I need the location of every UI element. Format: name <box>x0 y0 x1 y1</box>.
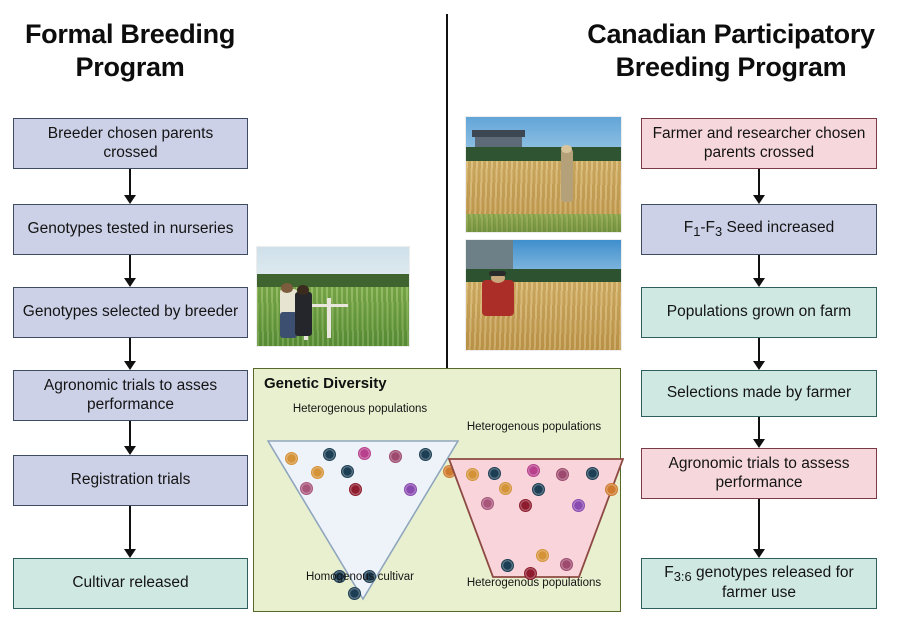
right-population-dot-13 <box>501 559 514 572</box>
left-population-dot-14 <box>348 587 361 600</box>
right-step-5-box[interactable]: Agronomic trials to assess performance <box>641 448 877 499</box>
left-population-dot-10 <box>349 483 362 496</box>
left-step-4-label: Agronomic trials to asses performance <box>20 377 241 415</box>
right-population-dot-11 <box>572 499 585 512</box>
right-population-dot-4 <box>556 468 569 481</box>
left-step-2-box[interactable]: Genotypes tested in nurseries <box>13 204 248 255</box>
right-column-title: Canadian Participatory Breeding Program <box>566 18 896 84</box>
right-arrow-2 <box>753 255 765 287</box>
left-population-dot-5 <box>419 448 432 461</box>
left-population-dot-7 <box>341 465 354 478</box>
left-step-5-label: Registration trials <box>71 471 191 490</box>
left-arrow-3 <box>124 338 136 370</box>
right-shape-top-caption: Heterogenous populations <box>454 421 614 435</box>
left-arrow-4 <box>124 421 136 455</box>
left-shape-top-caption: Heterogenous populations <box>280 403 440 417</box>
left-arrow-1 <box>124 169 136 204</box>
right-step-2-box[interactable]: F1-F3 Seed increased <box>641 204 877 255</box>
left-step-6-box[interactable]: Cultivar released <box>13 558 248 609</box>
right-arrow-3 <box>753 338 765 370</box>
right-population-dot-5 <box>586 467 599 480</box>
left-population-dot-6 <box>311 466 324 479</box>
right-step-4-label: Selections made by farmer <box>667 384 851 403</box>
right-population-dot-2 <box>488 467 501 480</box>
right-population-dot-14 <box>560 558 573 571</box>
left-step-3-label: Genotypes selected by breeder <box>23 303 238 322</box>
right-population-dot-12 <box>536 549 549 562</box>
left-population-dot-2 <box>323 448 336 461</box>
photo-breeders-in-field <box>257 247 409 346</box>
right-population-dot-8 <box>605 483 618 496</box>
diagram-canvas: Formal Breeding Program Canadian Partici… <box>0 0 900 630</box>
left-step-6-label: Cultivar released <box>72 574 188 593</box>
left-population-dot-3 <box>358 447 371 460</box>
right-step-1-box[interactable]: Farmer and researcher chosen parents cro… <box>641 118 877 169</box>
genetic-diversity-title: Genetic Diversity <box>264 375 387 392</box>
right-population-dot-9 <box>481 497 494 510</box>
right-step-5-label: Agronomic trials to assess performance <box>648 455 870 493</box>
left-column-title: Formal Breeding Program <box>6 18 254 84</box>
left-population-dot-11 <box>404 483 417 496</box>
right-population-dot-6 <box>499 482 512 495</box>
left-step-4-box[interactable]: Agronomic trials to asses performance <box>13 370 248 421</box>
photo-farmer-ripe-crop-house <box>466 117 621 232</box>
right-step-3-label: Populations grown on farm <box>667 303 851 322</box>
photo-farmer-red-shirt-field <box>466 240 621 350</box>
left-step-2-label: Genotypes tested in nurseries <box>28 220 234 239</box>
left-step-1-label: Breeder chosen parents crossed <box>20 125 241 163</box>
right-diversity-funnel <box>448 457 624 579</box>
genetic-diversity-panel: Genetic Diversity Heterogenous populatio… <box>253 368 621 612</box>
right-step-1-label: Farmer and researcher chosen parents cro… <box>648 125 870 163</box>
left-arrow-5 <box>124 506 136 558</box>
right-step-2-label: F1-F3 Seed increased <box>684 219 835 240</box>
left-arrow-2 <box>124 255 136 287</box>
right-arrow-1 <box>753 169 765 204</box>
left-step-5-box[interactable]: Registration trials <box>13 455 248 506</box>
left-population-dot-9 <box>300 482 313 495</box>
right-population-dot-1 <box>466 468 479 481</box>
right-step-6-box[interactable]: F3:6 genotypes released for farmer use <box>641 558 877 609</box>
right-step-6-label: F3:6 genotypes released for farmer use <box>648 564 870 604</box>
right-step-4-box[interactable]: Selections made by farmer <box>641 370 877 417</box>
right-population-dot-7 <box>532 483 545 496</box>
right-arrow-4 <box>753 417 765 448</box>
left-step-3-box[interactable]: Genotypes selected by breeder <box>13 287 248 338</box>
right-arrow-5 <box>753 499 765 558</box>
right-shape-bottom-caption: Heterogenous populations <box>454 577 614 591</box>
left-population-dot-1 <box>285 452 298 465</box>
right-population-dot-10 <box>519 499 532 512</box>
right-step-3-box[interactable]: Populations grown on farm <box>641 287 877 338</box>
left-shape-bottom-caption: Homogenous cultivar <box>280 571 440 585</box>
left-population-dot-4 <box>389 450 402 463</box>
left-step-1-box[interactable]: Breeder chosen parents crossed <box>13 118 248 169</box>
right-population-dot-3 <box>527 464 540 477</box>
